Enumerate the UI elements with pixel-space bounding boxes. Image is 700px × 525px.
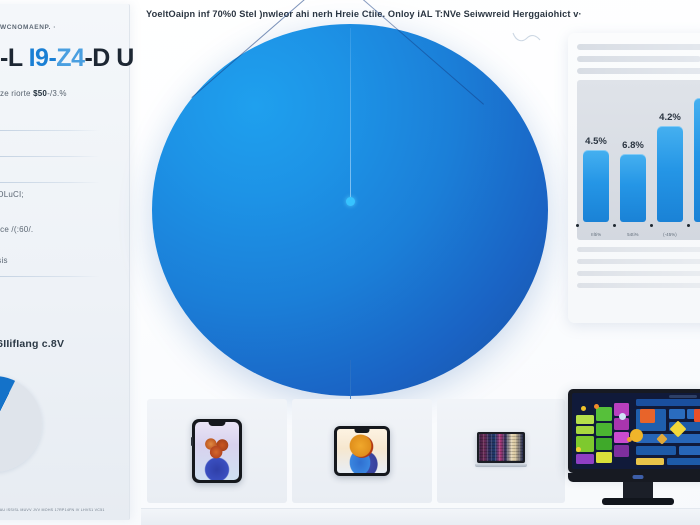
sidebar-eyebrow: WCNOMAENP. · [0, 24, 119, 31]
tablet-device [334, 426, 390, 476]
pie-chart-icon [0, 376, 42, 472]
sidebar-section-heading: a 6IIifIang c.8V [0, 338, 64, 350]
monitor-bezel [568, 389, 700, 473]
bar-value-label: 4.2% [659, 112, 681, 123]
phone-screen-artwork [195, 422, 239, 480]
monitor-stand-foot [602, 498, 674, 505]
bar-chart-plot-area: 4.5% rIlti% 6.8% 54ti% 4.2% (-45%) [577, 80, 700, 240]
monitor-thumbnail[interactable] [568, 389, 700, 507]
bar-rect[interactable] [620, 154, 646, 222]
sidebar-divider [0, 276, 100, 277]
monitor-screen-dashboard [572, 393, 700, 469]
sidebar-title-post: -D U [84, 44, 133, 72]
laptop-lid [477, 432, 525, 463]
phone-notch [209, 422, 226, 426]
bar-item[interactable]: 6.8% 54ti% [620, 140, 646, 222]
bar-group: 4.5% rIlti% 6.8% 54ti% 4.2% (-45%) [583, 90, 700, 222]
sidebar-subtitle-pre: ze riorte [0, 89, 33, 98]
skeleton-line [577, 247, 700, 252]
spoke-line-up [350, 28, 351, 202]
laptop-screen-artwork [479, 434, 523, 461]
monitor-indicator-light [633, 475, 644, 479]
tablet-notch [355, 429, 370, 433]
sidebar-list-item[interactable]: rnece /(:60/. [0, 225, 33, 234]
sidebar-divider [0, 182, 100, 183]
squiggle-decoration [512, 31, 542, 45]
skeleton-line [577, 283, 700, 288]
axis-tick-dot [576, 224, 579, 227]
laptop-device [475, 432, 527, 470]
sidebar-panel: WCNOMAENP. · -L I9-Z4-D U ze riorte $50-… [0, 4, 130, 520]
bar-rect[interactable] [657, 126, 683, 222]
sidebar-title-highlight: I9- [29, 44, 57, 72]
laptop-base [475, 464, 527, 467]
skeleton-line [577, 68, 700, 74]
bar-value-label: 6.8% [622, 140, 644, 151]
axis-tick-dot [613, 224, 616, 227]
bar-rect[interactable] [583, 150, 609, 222]
dashboard-canvas: WCNOMAENP. · -L I9-Z4-D U ze riorte $50-… [0, 0, 700, 525]
monitor-stand-neck [623, 482, 653, 498]
phone-thumbnail[interactable] [147, 399, 287, 503]
sidebar-divider [0, 156, 100, 157]
axis-tick-dot [687, 224, 690, 227]
sidebar-title-highlight-2: Z4 [56, 44, 84, 72]
sidebar-subtitle-post: -/3.% [47, 89, 67, 98]
sidebar-subtitle: ze riorte $50-/3.% [0, 89, 119, 98]
bar-item[interactable]: 4.2% (-45%) [657, 112, 683, 222]
phone-device [192, 419, 242, 483]
skeleton-line [577, 259, 700, 264]
sidebar-title: -L I9-Z4-D U [0, 44, 119, 73]
tablet-screen-artwork [337, 429, 387, 473]
bar-item[interactable]: 4.5% rIlti% [583, 136, 609, 222]
bottom-strip [141, 508, 700, 525]
hub-center-node[interactable] [346, 197, 355, 206]
sidebar-list-item[interactable]: nesis [0, 256, 8, 265]
sidebar-divider [0, 130, 100, 131]
skeleton-line [577, 56, 700, 62]
tablet-thumbnail[interactable] [292, 399, 432, 503]
bar-value-label: 4.5% [585, 136, 607, 147]
page-title: YoeltOaipn inf 70%0 SteI )nwleor ahi ner… [146, 9, 566, 19]
sidebar-metric-value: $50 [33, 89, 47, 98]
bar-category-label: 54ti% [627, 232, 638, 237]
sidebar-title-pre: -L [0, 44, 22, 72]
bar-item[interactable]: 4 [694, 84, 700, 222]
bar-category-label: rIlti% [591, 232, 602, 237]
skeleton-line [577, 271, 700, 276]
laptop-thumbnail[interactable] [437, 399, 565, 503]
bar-chart-panel: 4.5% rIlti% 6.8% 54ti% 4.2% (-45%) [568, 33, 700, 323]
phone-side-button [191, 437, 193, 446]
axis-tick-dot [650, 224, 653, 227]
sidebar-footer-text: MNV AU ISSISL MUVV JVV MOHS 17RP14FN IV … [0, 508, 118, 512]
skeleton-line [577, 44, 700, 50]
sidebar-list-item[interactable]: onOLuCI; [0, 190, 24, 199]
bar-rect[interactable] [694, 98, 700, 222]
bar-category-label: (-45%) [663, 232, 677, 237]
monitor-chin [568, 473, 700, 482]
